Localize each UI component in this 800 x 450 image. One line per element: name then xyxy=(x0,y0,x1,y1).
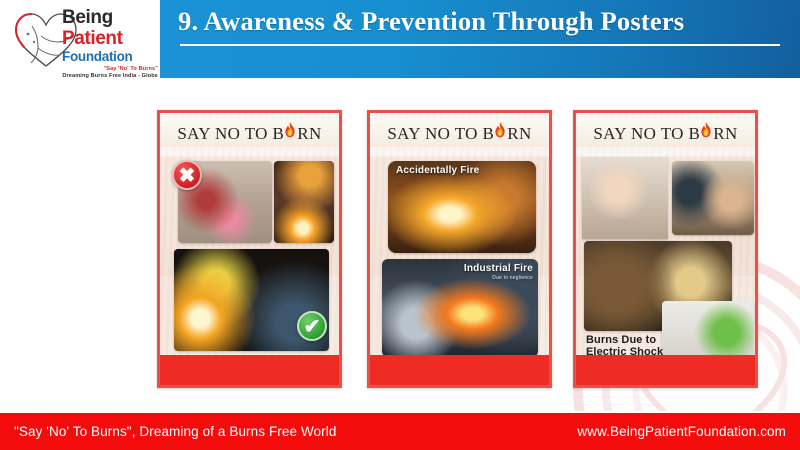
logo-tagline-2: Dreaming Burns Free India - Globe xyxy=(62,73,158,79)
poster-2-bottom-band xyxy=(370,355,549,385)
poster-3-title-prefix: SAY NO TO B xyxy=(593,124,700,144)
poster-2-title-strip: SAY NO TO B RN xyxy=(370,119,549,147)
photo-hand-faulty-wiring xyxy=(672,161,754,235)
footer-slogan: "Say 'No' To Burns", Dreaming of a Burns… xyxy=(14,424,336,439)
poster-card-3[interactable]: SAY NO TO B RN Burns Due to Electric Sho… xyxy=(573,110,758,388)
poster-1-title: SAY NO TO B RN xyxy=(177,122,321,144)
brand-logo[interactable]: Being Patient Foundation "Say 'No' To Bu… xyxy=(0,0,160,90)
accidentally-fire-label: Accidentally Fire xyxy=(396,165,479,176)
poster-1-title-suffix: RN xyxy=(297,124,321,144)
flame-icon xyxy=(284,122,297,139)
green-check-badge: ✔ xyxy=(297,311,327,341)
poster-1-title-strip: SAY NO TO B RN xyxy=(160,119,339,147)
poster-2-title-prefix: SAY NO TO B xyxy=(387,124,494,144)
flame-icon xyxy=(494,122,507,139)
photo-child-sparkler-night xyxy=(274,161,334,243)
poster-3-title-suffix: RN xyxy=(713,124,737,144)
flame-icon xyxy=(700,122,713,139)
slide-canvas: 9. Awareness & Prevention Through Poster… xyxy=(0,0,800,450)
industrial-fire-label-text: Industrial Fire xyxy=(464,263,533,274)
logo-line-1: Being xyxy=(62,8,158,27)
title-underline xyxy=(180,44,780,46)
industrial-fire-label: Industrial Fire Due to neglience xyxy=(464,263,533,281)
logo-tagline-1: "Say 'No' To Burns" xyxy=(62,66,158,72)
red-x-badge: ✖ xyxy=(172,160,202,190)
poster-1-bottom-band xyxy=(160,355,339,385)
footer-bar: "Say 'No' To Burns", Dreaming of a Burns… xyxy=(0,413,800,450)
photo-baby-with-cable xyxy=(582,157,668,239)
poster-card-2[interactable]: SAY NO TO B RN Accidentally Fire Industr… xyxy=(367,110,552,388)
poster-2-title: SAY NO TO B RN xyxy=(387,122,531,144)
poster-3-title-strip: SAY NO TO B RN xyxy=(576,119,755,147)
poster-card-1[interactable]: SAY NO TO B RN ✖ ✔ xyxy=(157,110,342,388)
poster-1-title-prefix: SAY NO TO B xyxy=(177,124,284,144)
poster-3-title: SAY NO TO B RN xyxy=(593,122,737,144)
logo-line-2: Patient xyxy=(62,29,158,48)
logo-line-3: Foundation xyxy=(62,50,158,64)
industrial-fire-label-subtext: Due to neglience xyxy=(464,275,533,281)
poster-3-bottom-band xyxy=(576,355,755,385)
footer-website[interactable]: www.BeingPatientFoundation.com xyxy=(577,424,786,439)
page-title: 9. Awareness & Prevention Through Poster… xyxy=(178,6,788,37)
poster-2-title-suffix: RN xyxy=(507,124,531,144)
